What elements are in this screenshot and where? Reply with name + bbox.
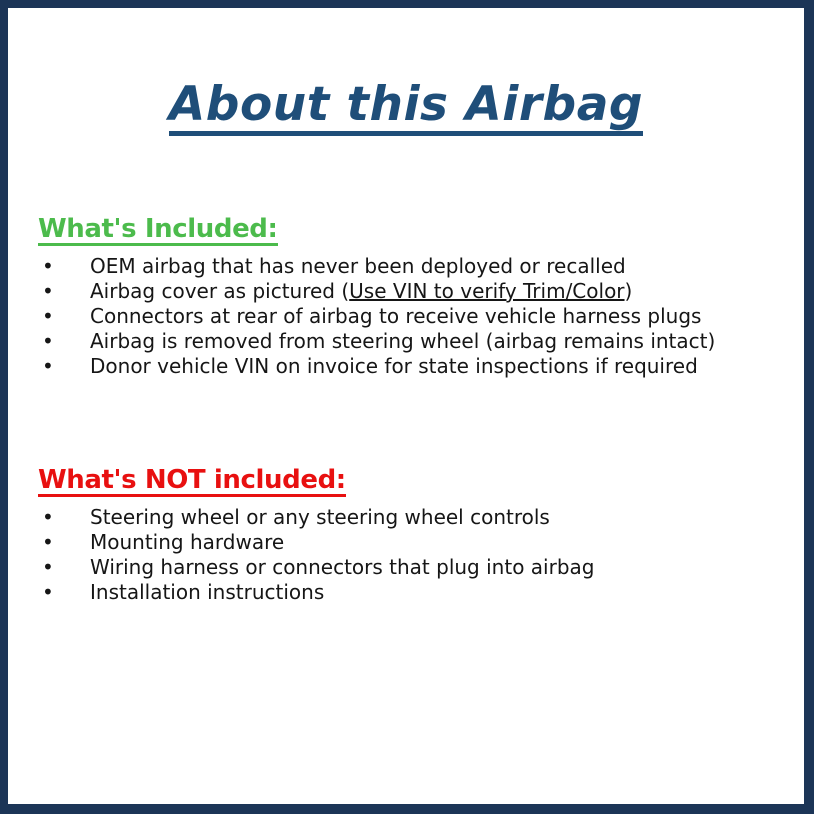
list-item-label: Connectors at rear of airbag to receive …	[90, 304, 701, 328]
not-included-bullet-list: •Steering wheel or any steering wheel co…	[38, 505, 784, 605]
list-item-label: OEM airbag that has never been deployed …	[90, 254, 626, 278]
list-item: •Donor vehicle VIN on invoice for state …	[38, 354, 784, 379]
about-this-airbag-card: About this Airbag What's Included: •OEM …	[0, 0, 814, 814]
list-item-text-underlined: Use VIN to verify Trim/Color	[349, 279, 624, 303]
list-item-text-plain: Steering wheel or any steering wheel con…	[90, 505, 550, 529]
bullet-point-icon: •	[42, 555, 54, 580]
list-item-label: Installation instructions	[90, 580, 324, 604]
section-heading-included: What's Included:	[38, 216, 278, 246]
list-item-text-plain: Mounting hardware	[90, 530, 284, 554]
list-item: •Connectors at rear of airbag to receive…	[38, 304, 784, 329]
bullet-point-icon: •	[42, 505, 54, 530]
list-item: •Airbag is removed from steering wheel (…	[38, 329, 784, 354]
list-item-text-plain: Connectors at rear of airbag to receive …	[90, 304, 701, 328]
list-item: •Steering wheel or any steering wheel co…	[38, 505, 784, 530]
list-item-label: Airbag is removed from steering wheel (a…	[90, 329, 715, 353]
list-item-label: Mounting hardware	[90, 530, 284, 554]
page-title: About this Airbag	[169, 80, 643, 136]
list-item: •Mounting hardware	[38, 530, 784, 555]
list-item-text-plain: Wiring harness or connectors that plug i…	[90, 555, 594, 579]
list-item-text-plain: OEM airbag that has never been deployed …	[90, 254, 626, 278]
included-bullet-list: •OEM airbag that has never been deployed…	[38, 254, 784, 379]
list-item-label: Wiring harness or connectors that plug i…	[90, 555, 594, 579]
bullet-point-icon: •	[42, 304, 54, 329]
list-item: •Wiring harness or connectors that plug …	[38, 555, 784, 580]
list-item-label: Donor vehicle VIN on invoice for state i…	[90, 354, 698, 378]
bullet-point-icon: •	[42, 580, 54, 605]
bullet-point-icon: •	[42, 354, 54, 379]
section-whats-not-included: What's NOT included: •Steering wheel or …	[38, 467, 784, 605]
bullet-point-icon: •	[42, 329, 54, 354]
bullet-point-icon: •	[42, 254, 54, 279]
list-item-text-plain: Installation instructions	[90, 580, 324, 604]
page-title-container: About this Airbag	[8, 80, 804, 136]
bullet-point-icon: •	[42, 530, 54, 555]
list-item-text-plain: Airbag cover as pictured (	[90, 279, 349, 303]
section-whats-included: What's Included: •OEM airbag that has ne…	[38, 216, 784, 379]
bullet-point-icon: •	[42, 279, 54, 304]
list-item-text-plain: Donor vehicle VIN on invoice for state i…	[90, 354, 698, 378]
section-heading-not-included: What's NOT included:	[38, 467, 346, 497]
list-item: •Airbag cover as pictured (Use VIN to ve…	[38, 279, 784, 304]
list-item: •Installation instructions	[38, 580, 784, 605]
list-item-label: Steering wheel or any steering wheel con…	[90, 505, 550, 529]
list-item-text-plain: Airbag is removed from steering wheel (a…	[90, 329, 715, 353]
list-item: •OEM airbag that has never been deployed…	[38, 254, 784, 279]
list-item-text-suffix: )	[625, 279, 633, 303]
list-item-label: Airbag cover as pictured (Use VIN to ver…	[90, 279, 632, 303]
